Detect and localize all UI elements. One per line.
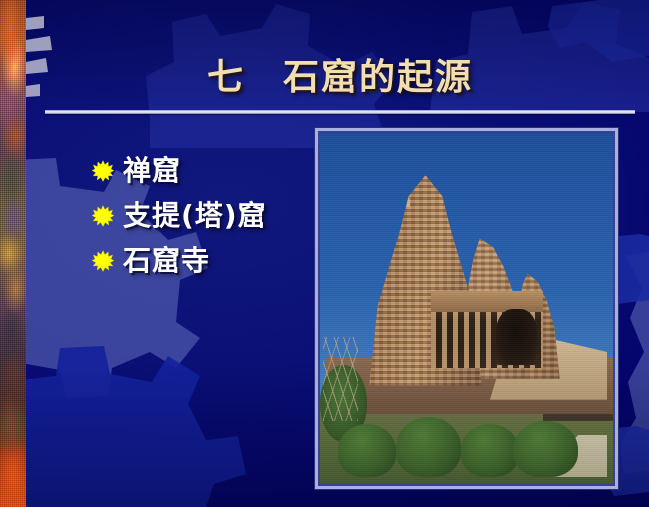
scaffolding — [323, 337, 358, 421]
star-bullet-icon — [92, 160, 114, 182]
temple-photograph — [320, 133, 613, 484]
star-bullet-icon — [92, 250, 114, 272]
bush — [513, 421, 577, 477]
strip-gear-teeth-icon — [0, 0, 60, 120]
image-border — [318, 131, 615, 486]
bush — [461, 424, 520, 477]
list-item: 禅窟 — [92, 148, 322, 193]
temple-entrance — [496, 309, 537, 365]
slide-title: 七 石窟的起源 — [60, 48, 620, 100]
bush — [396, 417, 460, 477]
title-divider — [45, 110, 635, 114]
list-item-label: 禅窟 — [123, 157, 181, 185]
list-item: 支提(塔)窟 — [92, 193, 322, 238]
image-frame — [315, 128, 618, 489]
list-item-label: 支提(塔)窟 — [123, 202, 267, 230]
bullet-list: 禅窟 支提(塔)窟 石窟寺 — [92, 148, 322, 283]
list-item-label: 石窟寺 — [123, 247, 210, 275]
presentation-slide: 七 石窟的起源 禅窟 支提(塔)窟 石窟寺 — [0, 0, 649, 507]
bush — [338, 424, 397, 477]
star-bullet-icon — [92, 205, 114, 227]
list-item: 石窟寺 — [92, 238, 322, 283]
